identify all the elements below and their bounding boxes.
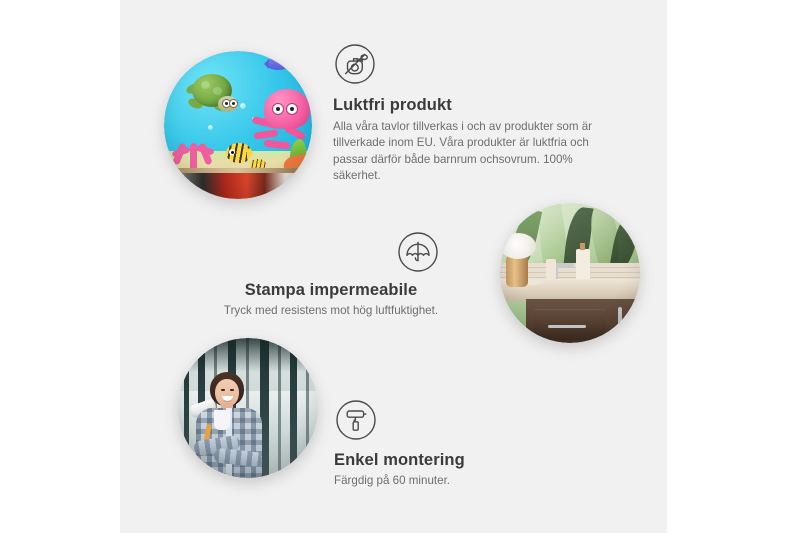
feature-title: Luktfri produkt <box>333 96 623 115</box>
yellow-fish-icon <box>226 143 252 163</box>
paint-roller-icon <box>334 398 378 442</box>
feature-body: Tryck med resistens mot hög luftfuktighe… <box>200 303 462 319</box>
person-with-roller <box>188 372 274 478</box>
feature-easy-mount: Enkel montering Färgdig på 60 minuter. <box>334 398 574 489</box>
feature-body: Färgdig på 60 minuter. <box>334 473 574 489</box>
feature-body: Alla våra tavlor tillverkas i och av pro… <box>333 119 618 185</box>
no-perfume-bottle-icon <box>333 42 377 86</box>
umbrella-icon <box>396 230 440 274</box>
flowers-icon <box>500 233 536 259</box>
feature-waterproof: Stampa impermeabile Tryck med resistens … <box>200 230 462 319</box>
photo-forest <box>178 338 318 478</box>
photo-underwater <box>164 51 312 199</box>
coral-icon <box>172 131 216 173</box>
turtle-icon <box>184 74 240 114</box>
feature-title: Enkel montering <box>334 451 574 470</box>
blue-fish-icon <box>266 57 290 70</box>
infographic-root: Luktfri produkt Alla våra tavlor tillver… <box>0 0 800 533</box>
feature-odourless: Luktfri produkt Alla våra tavlor tillver… <box>333 42 623 185</box>
photo-bathroom <box>500 203 640 343</box>
feature-title: Stampa impermeabile <box>200 281 462 300</box>
